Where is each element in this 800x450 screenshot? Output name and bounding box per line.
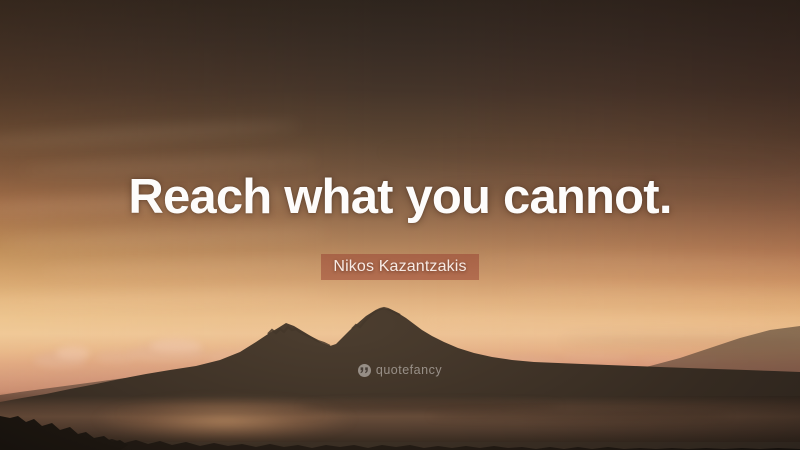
quote-mark-icon: [358, 364, 371, 377]
watermark: quotefancy: [0, 364, 800, 377]
quote-text: Reach what you cannot.: [0, 168, 800, 226]
author-name: Nikos Kazantzakis: [321, 254, 478, 280]
quote-poster: Reach what you cannot. Nikos Kazantzakis…: [0, 0, 800, 450]
watermark-brand: quotefancy: [376, 364, 442, 377]
author-attribution: Nikos Kazantzakis: [0, 254, 800, 280]
